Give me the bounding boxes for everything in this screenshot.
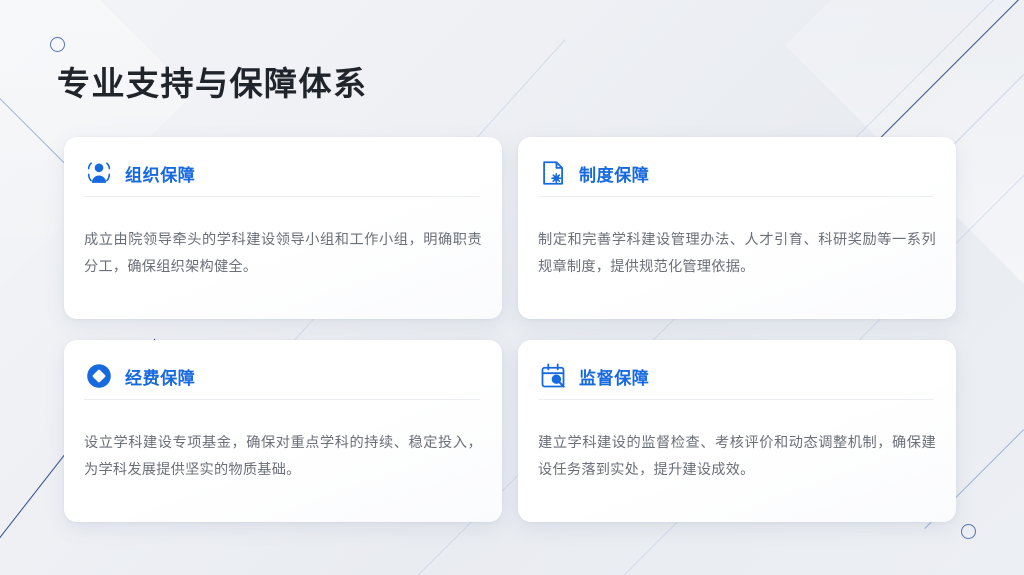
card-funding-guarantee[interactable]: 经费保障 设立学科建设专项基金，确保对重点学科的持续、稳定投入，为学科发展提供坚… xyxy=(64,340,502,522)
calendar-search-icon xyxy=(538,361,568,391)
card-divider xyxy=(84,399,480,400)
card-organization-guarantee[interactable]: 组织保障 成立由院领导牵头的学科建设领导小组和工作小组，明确职责分工，确保组织架… xyxy=(64,137,502,319)
card-header: 监督保障 xyxy=(538,361,649,391)
slide-canvas: 专业支持与保障体系 组织保障 成立由院领导牵头的学科建设领导小组和工作小组，明确… xyxy=(0,0,1024,575)
card-divider xyxy=(538,196,934,197)
card-title: 监督保障 xyxy=(579,364,649,389)
card-divider xyxy=(84,196,480,197)
card-institutional-guarantee[interactable]: 制度保障 制定和完善学科建设管理办法、人才引育、科研奖励等一系列规章制度，提供规… xyxy=(518,137,956,319)
card-supervision-guarantee[interactable]: 监督保障 建立学科建设的监督检查、考核评价和动态调整机制，确保建设任务落到实处，… xyxy=(518,340,956,522)
card-title: 经费保障 xyxy=(125,364,195,389)
card-header: 经费保障 xyxy=(84,361,195,391)
decor-ring-top-left xyxy=(50,37,65,52)
card-body-text: 设立学科建设专项基金，确保对重点学科的持续、稳定投入，为学科发展提供坚实的物质基… xyxy=(84,430,482,484)
card-body-text: 制定和完善学科建设管理办法、人才引育、科研奖励等一系列规章制度，提供规范化管理依… xyxy=(538,227,936,281)
document-badge-icon xyxy=(538,158,568,188)
page-title: 专业支持与保障体系 xyxy=(57,57,368,105)
card-header: 制度保障 xyxy=(538,158,649,188)
card-divider xyxy=(538,399,934,400)
decor-ring-bottom-right xyxy=(961,524,976,539)
user-group-icon xyxy=(84,158,114,188)
diamond-circle-icon xyxy=(84,361,114,391)
card-body-text: 成立由院领导牵头的学科建设领导小组和工作小组，明确职责分工，确保组织架构健全。 xyxy=(84,227,482,281)
card-body-text: 建立学科建设的监督检查、考核评价和动态调整机制，确保建设任务落到实处，提升建设成… xyxy=(538,430,936,484)
card-header: 组织保障 xyxy=(84,158,195,188)
card-title: 制度保障 xyxy=(579,161,649,186)
card-title: 组织保障 xyxy=(125,161,195,186)
